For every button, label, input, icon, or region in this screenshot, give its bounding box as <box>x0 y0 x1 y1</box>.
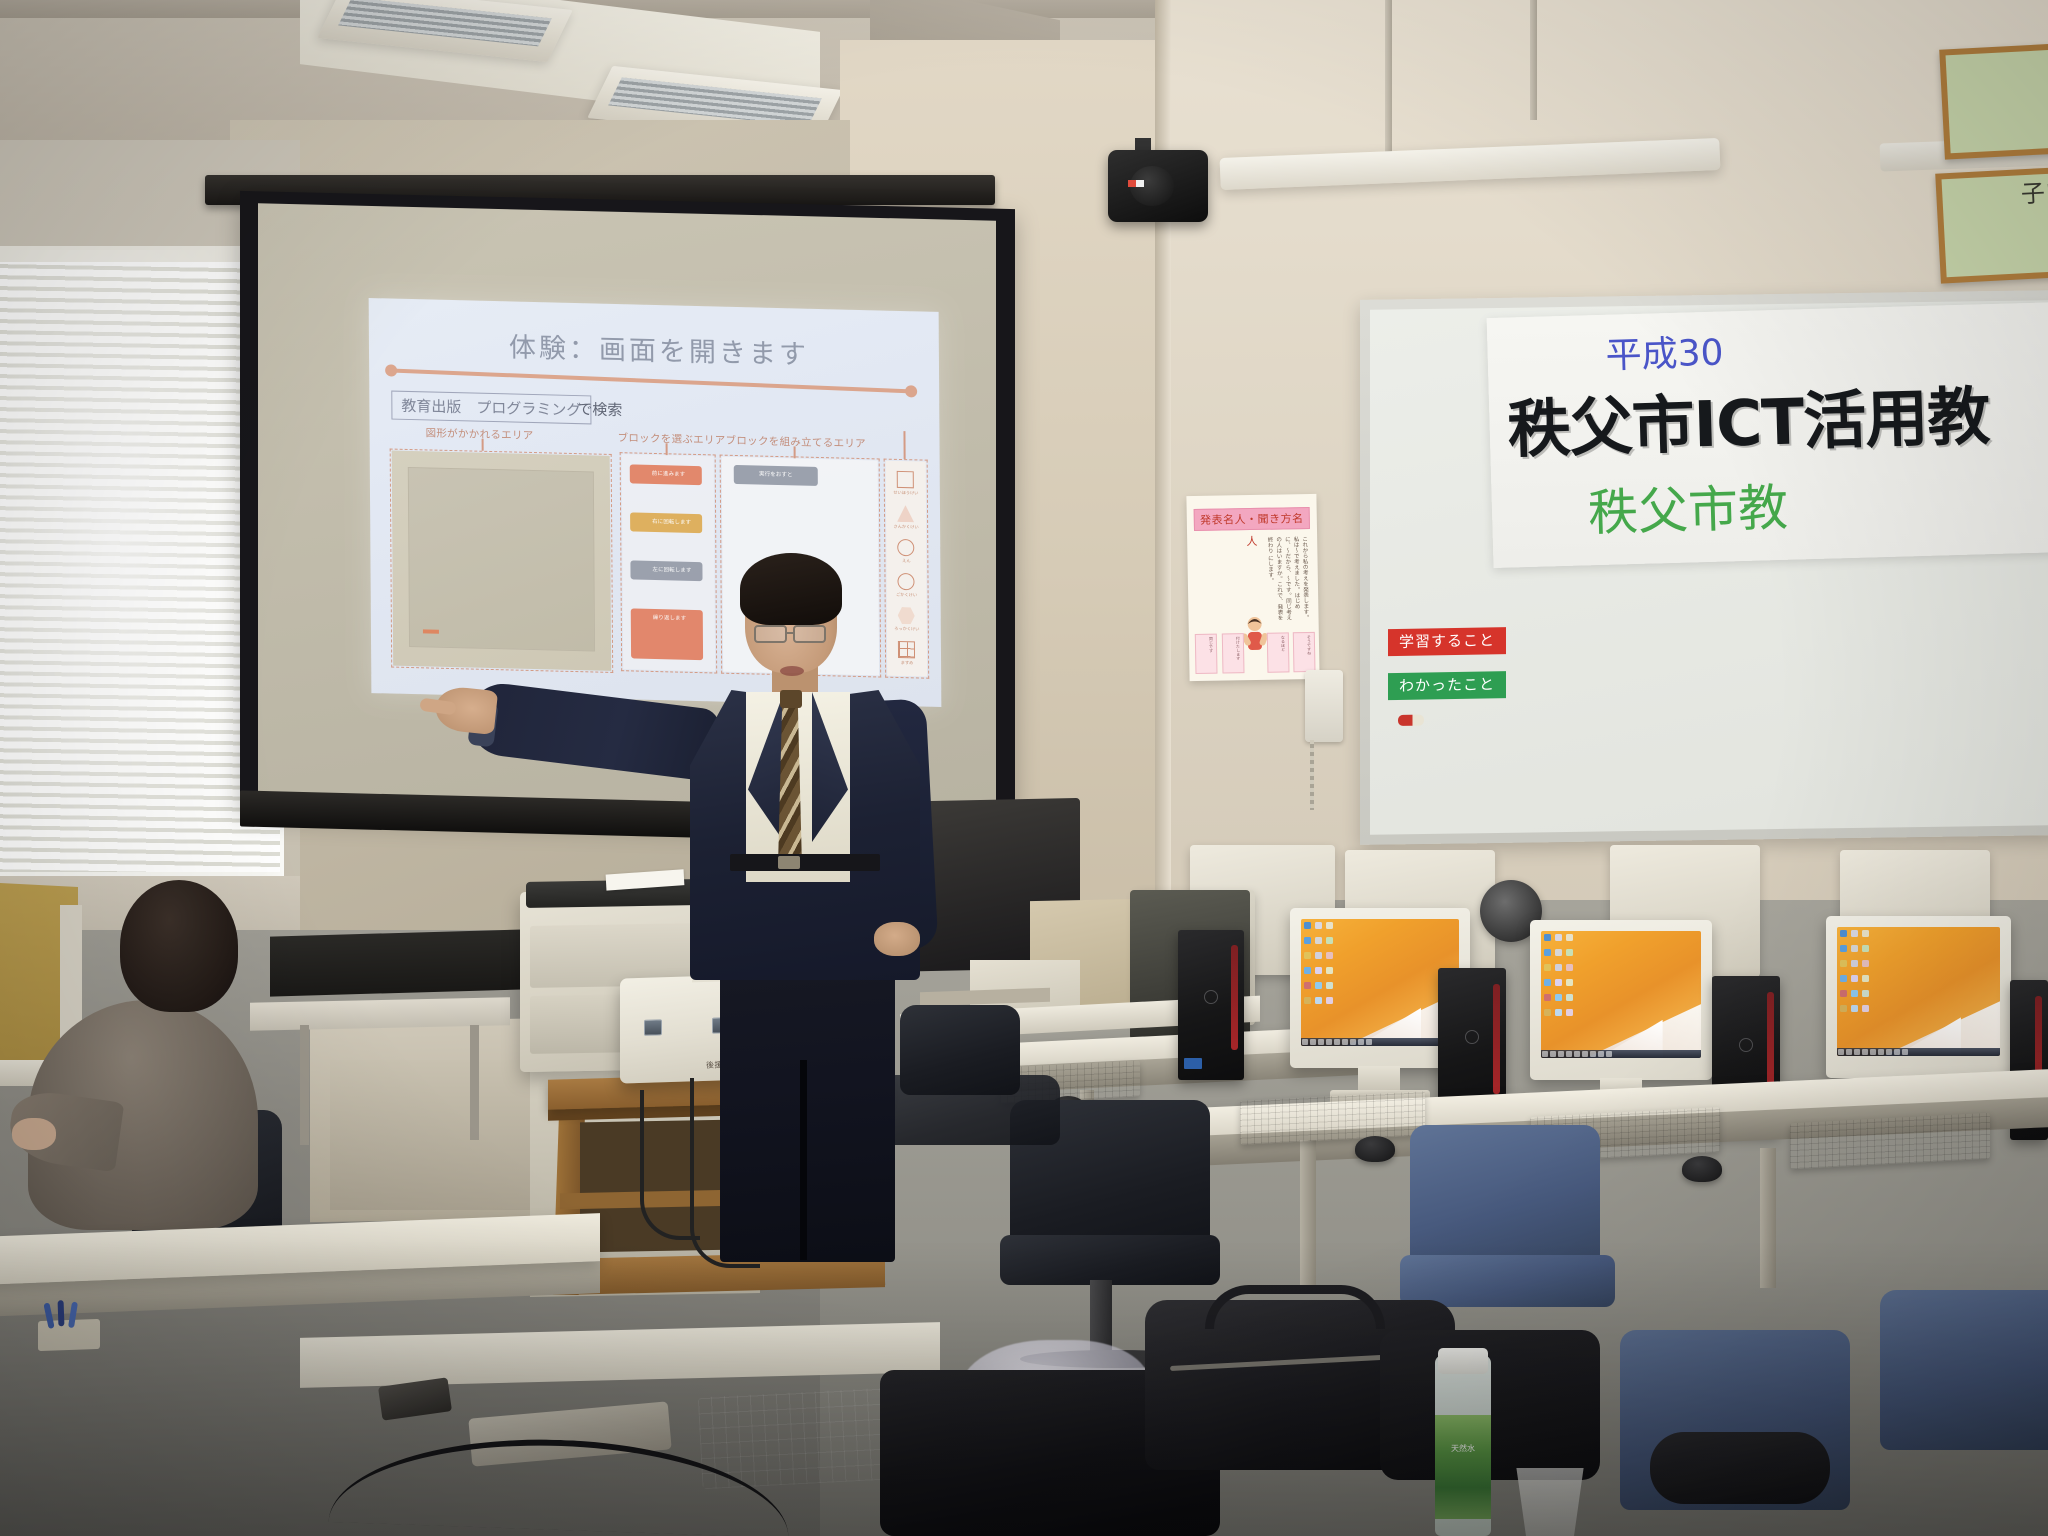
table-leg <box>300 1025 309 1145</box>
power-button-icon[interactable] <box>1739 1038 1753 1052</box>
wall-phone[interactable] <box>1305 670 1343 742</box>
shoulder-bag-handle <box>1205 1285 1385 1329</box>
poster-illustration <box>1240 615 1269 657</box>
presenter-tie-knot <box>780 690 802 708</box>
power-button-icon[interactable] <box>1204 990 1218 1004</box>
attendee-head <box>120 880 238 1012</box>
taskbar[interactable] <box>1837 1048 2000 1056</box>
water-bottle-label: 天然水 <box>1435 1415 1491 1519</box>
controller-device[interactable] <box>1650 1432 1830 1504</box>
tool-caption: えん <box>889 558 923 565</box>
presenter-leg-split <box>800 1060 807 1260</box>
tool-caption: せいほうけい <box>889 490 923 497</box>
poster-body: これから私の考えを発表します。私は〜で考えました。はじめに、〜だから、〜です。同… <box>1196 536 1310 626</box>
banner-title: 秩父市ICT活用教 <box>1506 366 1990 470</box>
phone-cord <box>1310 740 1314 810</box>
mouse-3[interactable] <box>1682 1156 1722 1182</box>
chair-2-back[interactable] <box>1410 1125 1600 1275</box>
projector-port-usb[interactable] <box>644 1019 662 1036</box>
chair-2-seat[interactable] <box>1400 1255 1615 1307</box>
slide-area-label-build: ブロックを組み立てるエリア <box>725 433 866 451</box>
slide-block-turn-left: 左に回転します <box>630 560 702 581</box>
desk-leg <box>1300 1140 1316 1290</box>
slide-arrow-tools <box>903 431 905 459</box>
square-icon <box>897 471 914 488</box>
presenter-mouth <box>780 666 804 676</box>
ceiling-light-grill <box>338 0 552 46</box>
glasses-icon <box>793 625 826 643</box>
event-banner: 平成30 秩父市ICT活用教 秩父市教 <box>1487 302 2048 568</box>
water-bottle-label-text: 天然水 <box>1439 1443 1487 1454</box>
slide-arrow-canvas <box>482 439 484 451</box>
desk-leg <box>1760 1148 1776 1288</box>
framed-calligraphy-1: あたた <box>1939 42 2048 159</box>
slide-canvas-area <box>392 451 611 671</box>
slide-tool-area: せいほうけい さんかくけい えん ごかくけい ろっかくけい ますめ <box>886 461 928 677</box>
tower-accent <box>1231 945 1238 1050</box>
grid-icon <box>898 641 915 658</box>
monitor-2[interactable] <box>1530 920 1712 1080</box>
tool-caption: ろっかくけい <box>890 626 924 633</box>
slide-area-label-palette: ブロックを選ぶエリア <box>618 430 726 448</box>
poster-bubble: なるほど <box>1267 632 1290 672</box>
circle-icon <box>897 539 914 556</box>
rule-dot-right <box>905 385 917 397</box>
table-leg <box>470 1025 479 1140</box>
pen-holder[interactable] <box>38 1319 100 1351</box>
banner-year: 平成30 <box>1605 323 1724 378</box>
desktop-icons[interactable] <box>1304 922 1344 1012</box>
presenter-belt <box>730 854 880 871</box>
slide-canvas-turtle-icon <box>423 629 439 633</box>
hexagon-icon <box>898 607 915 624</box>
poster-bubble: そうですね <box>1293 632 1316 672</box>
monitor-1-screen[interactable] <box>1301 919 1459 1046</box>
os-badge-icon <box>1184 1058 1202 1069</box>
slide-block-forward: 前に進みます <box>630 464 702 485</box>
slide-title: 体験：画面を開きます <box>419 323 899 374</box>
pentagon-icon <box>897 573 914 590</box>
desktop-icons[interactable] <box>1544 934 1584 1024</box>
attendee-hand <box>12 1118 56 1150</box>
triangle-icon <box>897 505 914 522</box>
monitor-3[interactable] <box>1826 916 2011 1078</box>
slide-build-start-block: 実行をおすと <box>734 465 818 486</box>
mouse-1[interactable] <box>1355 1136 1395 1162</box>
chair-6-back[interactable] <box>900 1005 1020 1095</box>
speaker-badge <box>1128 180 1144 187</box>
ceiling-rod <box>1530 0 1537 120</box>
banner-org: 秩父市教 <box>1587 468 1789 546</box>
poster-bubble: 付けたします <box>1222 633 1245 673</box>
presenter-right-hand <box>874 922 920 956</box>
slide-block-repeat: 繰り返します <box>631 608 703 660</box>
slide-block-turn-right: 右に回転します <box>630 512 702 533</box>
magnet-icon[interactable] <box>1398 715 1424 726</box>
storage-cabinet-front <box>330 1060 540 1210</box>
projector-cable <box>640 1090 700 1240</box>
glasses-bridge <box>787 632 795 634</box>
child-figure-icon <box>1240 615 1269 657</box>
projected-slide: 体験：画面を開きます 教育出版 プログラミング で検索 図形がかかれるエリア ブ… <box>369 298 942 707</box>
water-bottle-cap[interactable] <box>1438 1348 1488 1374</box>
framed-calligraphy-2: いい子子 <box>1935 166 2048 283</box>
tool-caption: ますめ <box>890 660 924 667</box>
tool-caption: さんかくけい <box>889 524 923 531</box>
rule-dot-left <box>385 364 397 376</box>
glasses-icon <box>754 625 787 643</box>
tool-caption: ごかくけい <box>890 592 924 599</box>
wall-speaker-icon <box>1108 150 1208 222</box>
slide-area-label-canvas: 図形がかかれるエリア <box>426 425 534 443</box>
chair-4-back[interactable] <box>1880 1290 2048 1450</box>
whiteboard-label-group: 学習すること わかったこと <box>1388 627 1518 739</box>
slide-canvas-inner <box>408 467 595 652</box>
pen-icon <box>58 1300 65 1326</box>
framed-calligraphy-text: あたた <box>1946 49 2048 154</box>
framed-calligraphy-text: いい子子 <box>1942 173 2048 278</box>
slide-search-term-box: 教育出版 プログラミング <box>391 391 591 425</box>
desktop-icons[interactable] <box>1840 930 1880 1020</box>
presenter-hair <box>740 553 842 625</box>
power-button-icon[interactable] <box>1465 1030 1479 1044</box>
poster-title: 発表名人・聞き方名人 <box>1194 507 1310 531</box>
chair-1-seat[interactable] <box>1000 1235 1220 1285</box>
whiteboard-label-study: 学習すること <box>1388 627 1506 656</box>
poster-bubble: 同じです <box>1195 634 1218 674</box>
classroom-poster: 発表名人・聞き方名人 これから私の考えを発表します。私は〜で考えました。はじめに… <box>1186 494 1319 681</box>
belt-buckle-icon <box>778 856 800 869</box>
taskbar[interactable] <box>1541 1050 1701 1058</box>
taskbar[interactable] <box>1301 1038 1459 1046</box>
monitor-3-screen[interactable] <box>1837 927 2000 1056</box>
slide-palette-area: 前に進みます 右に回転します 左に回転します 繰り返します <box>622 454 715 671</box>
classroom-photo: あたた いい子子 体験：画面を開きます 教育出版 プログラミング で検索 図形が… <box>0 0 2048 1536</box>
whiteboard-label-learned: わかったこと <box>1388 671 1506 700</box>
monitor-2-screen[interactable] <box>1541 931 1701 1058</box>
slide-search-suffix: で検索 <box>577 398 622 420</box>
ceiling-rod <box>1385 0 1392 155</box>
pc-tower-1[interactable] <box>1178 930 1244 1080</box>
tower-accent <box>1493 984 1500 1095</box>
water-bottle[interactable]: 天然水 <box>1435 1355 1491 1536</box>
